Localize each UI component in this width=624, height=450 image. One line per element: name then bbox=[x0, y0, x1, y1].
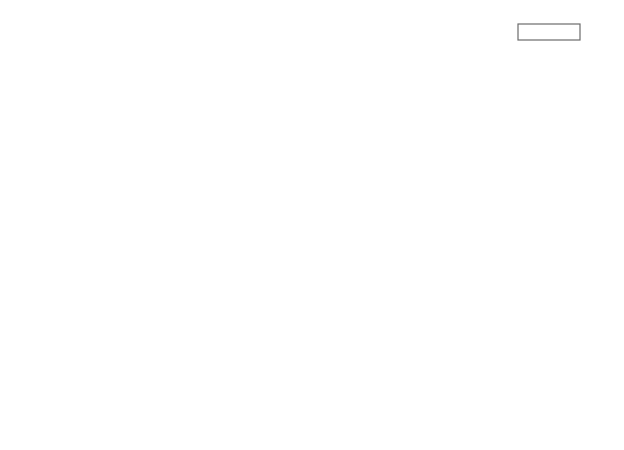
model-badge-box[interactable] bbox=[518, 24, 580, 40]
pump-performance-chart bbox=[0, 0, 624, 450]
plot-background-layer bbox=[58, 22, 553, 408]
plot-area-background bbox=[58, 22, 553, 408]
model-badge[interactable] bbox=[518, 24, 580, 40]
chart-canvas bbox=[0, 0, 624, 450]
